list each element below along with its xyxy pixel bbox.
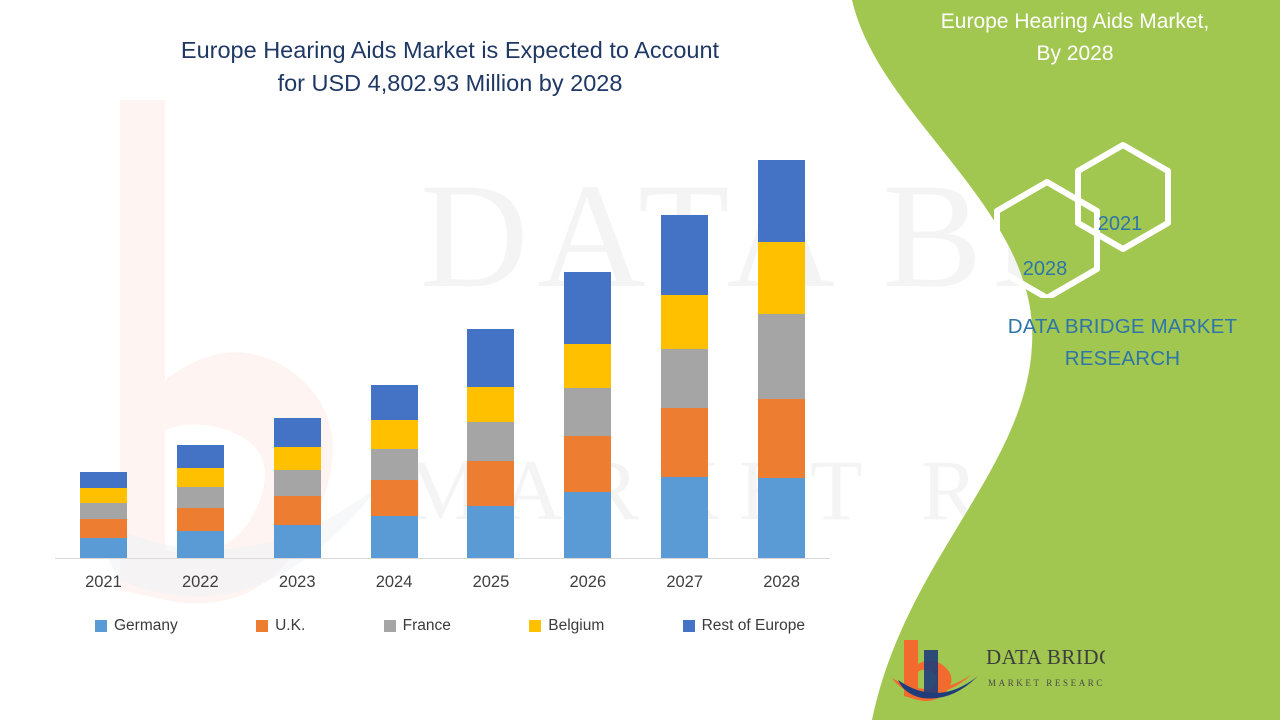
stacked-bar — [80, 472, 127, 558]
stacked-bar-chart — [55, 160, 830, 560]
legend-label: France — [403, 617, 451, 635]
panel-title-line-2: By 2028 — [900, 38, 1250, 70]
bar-segment-u-k — [80, 519, 127, 537]
legend-item-germany[interactable]: Germany — [95, 617, 178, 635]
bar-column-2026 — [548, 160, 628, 558]
stacked-bar — [467, 329, 514, 558]
bar-segment-belgium — [564, 344, 611, 388]
page-title: Europe Hearing Aids Market is Expected t… — [90, 34, 810, 101]
legend-item-u-k[interactable]: U.K. — [256, 617, 305, 635]
stacked-bar — [564, 272, 611, 558]
brand-line-2: RESEARCH — [960, 343, 1280, 375]
panel-title-line-1: Europe Hearing Aids Market, — [900, 6, 1250, 38]
legend-item-rest-of-europe[interactable]: Rest of Europe — [683, 617, 805, 635]
legend-label: Rest of Europe — [702, 617, 805, 635]
headline-line-2: for USD 4,802.93 Million by 2028 — [90, 67, 810, 100]
x-axis-label-2021: 2021 — [63, 573, 143, 592]
legend-label: U.K. — [275, 617, 305, 635]
bar-segment-belgium — [467, 387, 514, 422]
bar-segment-rest-of-europe — [80, 472, 127, 488]
svg-text:MARKET RESEARCH: MARKET RESEARCH — [988, 678, 1105, 688]
bar-segment-germany — [177, 531, 224, 558]
x-axis-labels: 20212022202320242025202620272028 — [55, 573, 830, 592]
bar-column-2022 — [160, 160, 240, 558]
bar-segment-belgium — [80, 488, 127, 503]
bar-column-2021 — [63, 160, 143, 558]
hexagon-label-2028: 2028 — [1005, 258, 1085, 281]
bar-segment-rest-of-europe — [177, 445, 224, 469]
data-bridge-logo: DATA BRIDGE MARKET RESEARCH — [890, 636, 1105, 702]
bar-segment-france — [661, 349, 708, 408]
bar-segment-germany — [564, 492, 611, 558]
brand-line-1: DATA BRIDGE MARKET — [960, 311, 1280, 343]
bar-segment-belgium — [177, 468, 224, 487]
stacked-bar — [371, 385, 418, 558]
bar-segment-u-k — [371, 480, 418, 516]
bar-segment-france — [758, 314, 805, 399]
bar-segment-u-k — [758, 399, 805, 478]
x-axis-label-2022: 2022 — [160, 573, 240, 592]
legend-swatch-icon — [256, 620, 268, 632]
bar-column-2023 — [257, 160, 337, 558]
bar-column-2027 — [645, 160, 725, 558]
bar-segment-belgium — [758, 242, 805, 314]
bar-segment-germany — [758, 478, 805, 558]
x-axis-label-2023: 2023 — [257, 573, 337, 592]
bar-segment-germany — [661, 477, 708, 558]
x-axis-line — [55, 558, 830, 559]
legend-swatch-icon — [95, 620, 107, 632]
bar-segment-france — [467, 422, 514, 461]
bar-segment-belgium — [274, 447, 321, 471]
stacked-bar — [274, 418, 321, 558]
hexagon-badges: 2021 2028 — [985, 138, 1195, 298]
bar-segment-belgium — [371, 420, 418, 449]
panel-title: Europe Hearing Aids Market, By 2028 — [900, 6, 1250, 69]
bar-column-2025 — [451, 160, 531, 558]
bar-segment-rest-of-europe — [371, 385, 418, 420]
logo-mark-icon: DATA BRIDGE MARKET RESEARCH — [890, 636, 1105, 702]
bar-segment-france — [274, 470, 321, 496]
bar-segment-france — [564, 388, 611, 436]
bar-segment-rest-of-europe — [274, 418, 321, 447]
chart-legend: GermanyU.K.FranceBelgiumRest of Europe — [95, 617, 805, 635]
bar-segment-france — [177, 487, 224, 507]
legend-item-france[interactable]: France — [384, 617, 451, 635]
bar-segment-germany — [274, 525, 321, 558]
legend-swatch-icon — [529, 620, 541, 632]
bar-segment-u-k — [274, 496, 321, 525]
bar-segment-u-k — [467, 461, 514, 506]
bar-segment-rest-of-europe — [467, 329, 514, 387]
bar-segment-u-k — [177, 508, 224, 532]
stacked-bar — [177, 445, 224, 558]
x-axis-label-2028: 2028 — [742, 573, 822, 592]
bar-segment-france — [371, 449, 418, 480]
brand-name-text: DATA BRIDGE MARKET RESEARCH — [960, 311, 1280, 375]
chart-plot-area — [55, 160, 830, 558]
legend-swatch-icon — [384, 620, 396, 632]
bar-segment-belgium — [661, 295, 708, 350]
svg-text:DATA BRIDGE: DATA BRIDGE — [986, 645, 1105, 669]
bar-column-2028 — [742, 160, 822, 558]
stacked-bar — [758, 160, 805, 558]
legend-label: Belgium — [548, 617, 604, 635]
bar-segment-rest-of-europe — [758, 160, 805, 242]
x-axis-label-2026: 2026 — [548, 573, 628, 592]
bar-segment-u-k — [564, 436, 611, 492]
legend-item-belgium[interactable]: Belgium — [529, 617, 604, 635]
x-axis-label-2024: 2024 — [354, 573, 434, 592]
hexagon-label-2021: 2021 — [1080, 213, 1160, 236]
legend-label: Germany — [114, 617, 178, 635]
bar-segment-germany — [371, 516, 418, 558]
infographic-canvas: DATA BRIDGE MARKET RESEARCH Europe Heari… — [0, 0, 1280, 720]
bar-column-2024 — [354, 160, 434, 558]
bar-segment-rest-of-europe — [661, 215, 708, 295]
bar-segment-rest-of-europe — [564, 272, 611, 344]
x-axis-label-2025: 2025 — [451, 573, 531, 592]
bar-segment-germany — [467, 506, 514, 558]
stacked-bar — [661, 215, 708, 558]
legend-swatch-icon — [683, 620, 695, 632]
x-axis-label-2027: 2027 — [645, 573, 725, 592]
bar-segment-germany — [80, 538, 127, 558]
bar-segment-france — [80, 503, 127, 519]
headline-line-1: Europe Hearing Aids Market is Expected t… — [90, 34, 810, 67]
bar-segment-u-k — [661, 408, 708, 476]
